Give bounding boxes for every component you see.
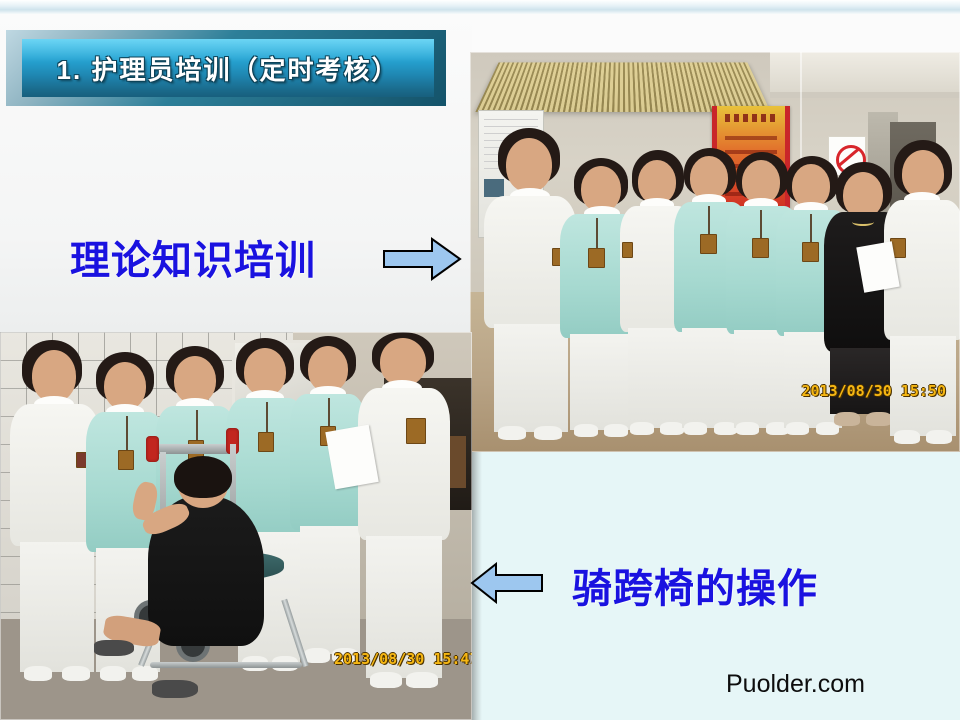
title-banner: 1. 护理员培训（定时考核） bbox=[6, 30, 446, 106]
perforated-ceiling-panel bbox=[475, 62, 770, 112]
slide-canvas: 1. 护理员培训（定时考核） bbox=[0, 0, 960, 720]
arrow-right-icon bbox=[382, 236, 462, 282]
caption-straddle-chair-operation: 骑跨椅的操作 bbox=[572, 556, 818, 614]
title-banner-face: 1. 护理员培训（定时考核） bbox=[22, 39, 434, 97]
photo-group-nurses-corridor: 2013/08/30 15:50 bbox=[470, 52, 960, 452]
chair-handle-red bbox=[146, 436, 159, 462]
ceiling-trim-strip bbox=[770, 92, 960, 98]
page-title: 1. 护理员培训（定时考核） bbox=[57, 50, 400, 87]
photo-timestamp: 2013/08/30 15:47 bbox=[334, 650, 472, 668]
caption-theory-training: 理论知识培训 bbox=[70, 228, 316, 286]
ceiling-right-section bbox=[770, 52, 960, 92]
arrow-left-icon bbox=[470, 562, 544, 604]
photo-straddle-chair-demo: 2013/08/30 15:47 bbox=[0, 332, 472, 720]
watermark-text: Puolder.com bbox=[726, 670, 865, 699]
photo-timestamp: 2013/08/30 15:50 bbox=[802, 382, 947, 400]
title-banner-bevel: 1. 护理员培训（定时考核） bbox=[6, 30, 446, 106]
slide-top-accent-strip bbox=[0, 0, 960, 14]
